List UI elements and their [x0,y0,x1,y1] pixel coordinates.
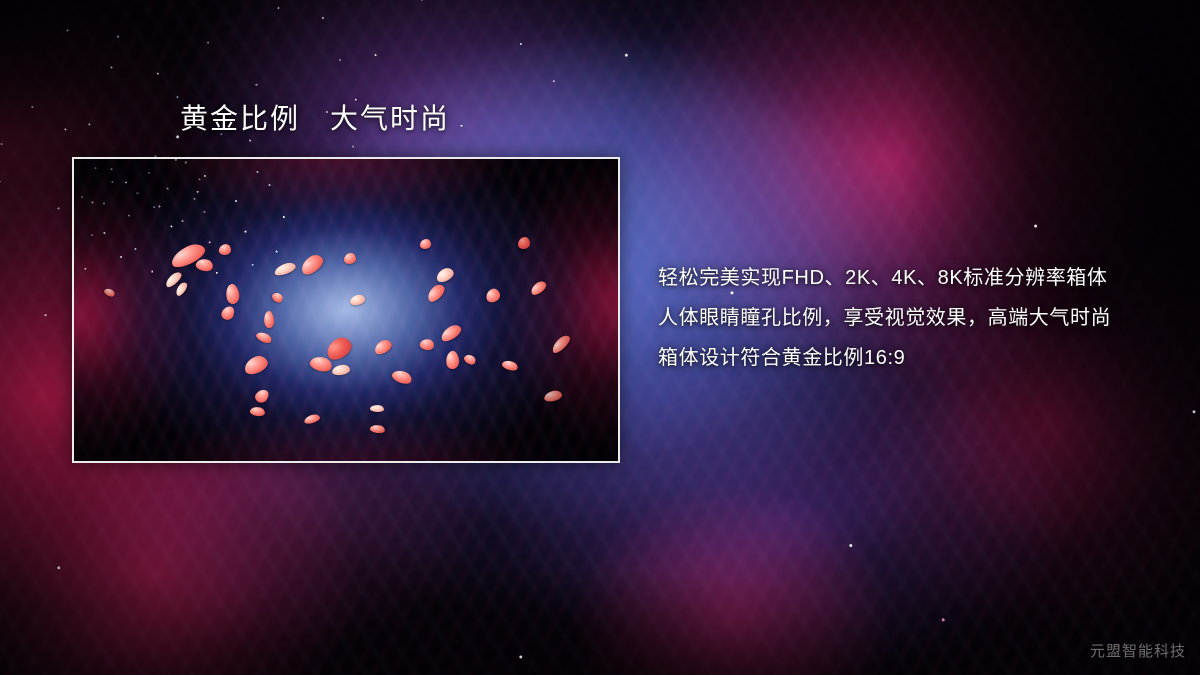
description-line-3: 箱体设计符合黄金比例16:9 [658,338,1158,378]
description-line-2: 人体眼睛瞳孔比例，享受视觉效果，高端大气时尚 [658,298,1158,338]
presentation-slide: 黄金比例 大气时尚 [0,0,1200,675]
photo-content [74,159,618,461]
watermark-logo-text: 元盟智能科技 [1090,640,1186,661]
photo-vignette [74,159,618,461]
description-line-1: 轻松完美实现FHD、2K、4K、8K标准分辨率箱体 [658,258,1158,298]
description-text-block: 轻松完美实现FHD、2K、4K、8K标准分辨率箱体 人体眼睛瞳孔比例，享受视觉效… [658,258,1158,378]
framed-photo [72,157,620,463]
page-title: 黄金比例 大气时尚 [180,101,450,136]
